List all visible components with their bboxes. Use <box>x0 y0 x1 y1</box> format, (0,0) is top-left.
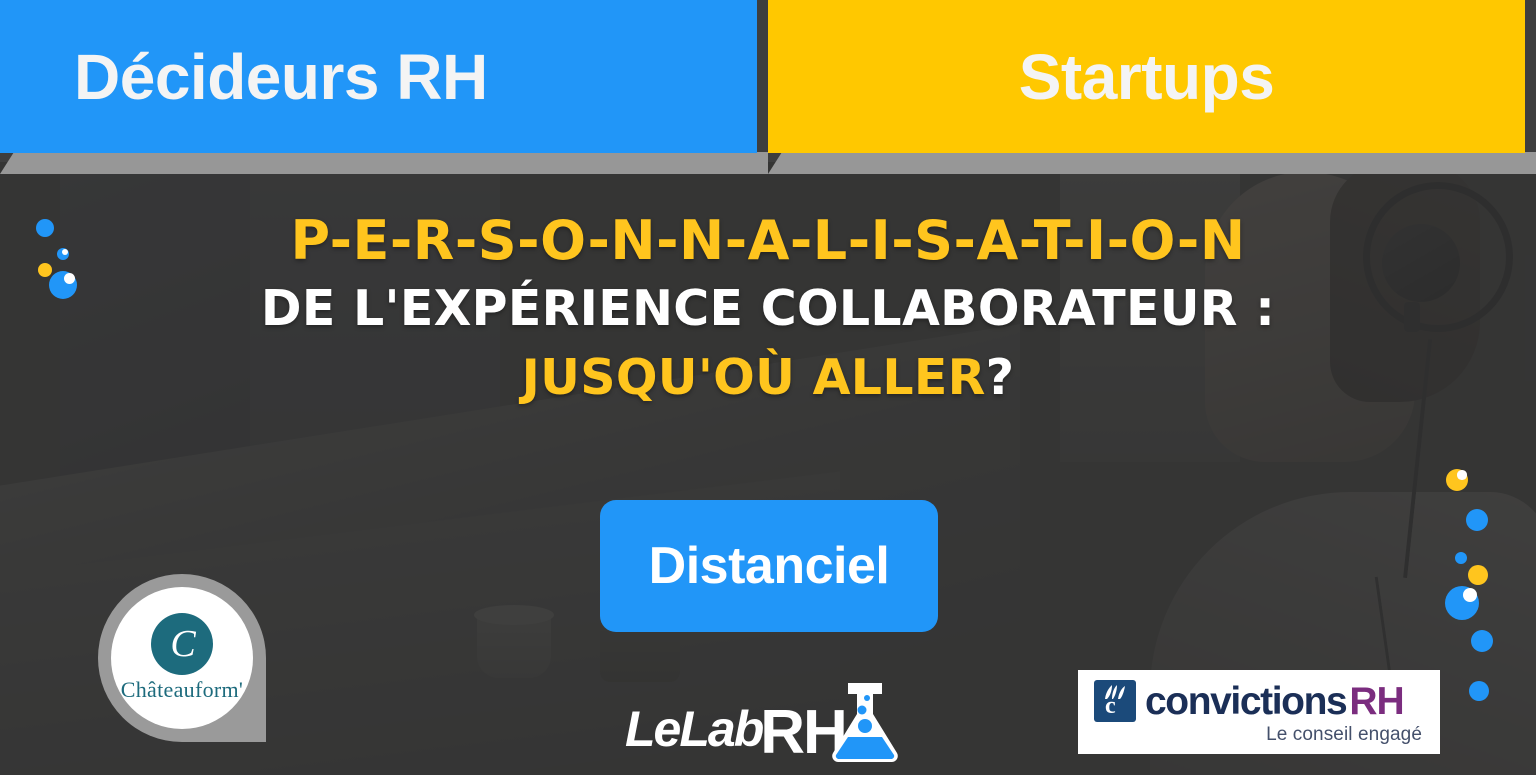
decor-right-dot <box>1469 681 1489 701</box>
decor-right-dot <box>1446 469 1468 491</box>
decor-right-dot-highlight <box>1463 588 1477 602</box>
chateauform-circle: C Châteauform' <box>111 587 253 729</box>
headline-line-question: JUSQU'OÙ ALLER? <box>0 353 1536 402</box>
headline-question-highlight: JUSQU'OÙ ALLER <box>522 349 986 406</box>
decor-right-dot <box>1455 552 1467 564</box>
headline-line-experience: DE L'EXPÉRIENCE COLLABORATEUR : <box>0 284 1536 333</box>
audience-banner-row: Décideurs RH Startups <box>0 0 1536 175</box>
banner-decideurs-rh[interactable]: Décideurs RH <box>0 0 757 153</box>
headline-block: P-E-R-S-O-N-N-A-L-I-S-A-T-I-O-N DE L'EXP… <box>0 214 1536 402</box>
flask-icon <box>828 679 902 763</box>
decor-left-dot-highlight <box>62 249 68 255</box>
decor-right-dot <box>1471 630 1493 652</box>
logo-convictions-rh: c convictions RH Le conseil engagé <box>1078 670 1440 754</box>
headline-line-personnalisation: P-E-R-S-O-N-N-A-L-I-S-A-T-I-O-N <box>0 214 1536 268</box>
banner-decideurs-rh-label: Décideurs RH <box>74 45 488 109</box>
convictions-rh-wordmark: RH <box>1349 682 1403 721</box>
banner-shadow-left <box>0 152 768 174</box>
decor-left-dot <box>57 248 69 260</box>
chateauform-monogram-letter: C <box>170 625 193 663</box>
decor-left-dot <box>49 271 77 299</box>
logo-lelab-rh: LeLab RH <box>625 673 915 761</box>
decor-right-dot <box>1468 565 1488 585</box>
distanciel-button[interactable]: Distanciel <box>600 500 938 632</box>
decor-left-dot <box>38 263 52 277</box>
convictions-tagline: Le conseil engagé <box>1094 724 1424 746</box>
decor-left-dot <box>36 219 54 237</box>
convictions-wordmark: convictions <box>1145 682 1346 721</box>
leaf-c-icon: c <box>1094 680 1136 722</box>
headline-question-mark: ? <box>986 349 1015 406</box>
distanciel-button-label: Distanciel <box>649 536 890 596</box>
logo-chateauform: C Châteauform' <box>98 574 266 742</box>
banner-shadow-right <box>768 152 1536 174</box>
convictions-c-letter: c <box>1105 694 1116 718</box>
chateauform-monogram-icon: C <box>151 613 213 675</box>
decor-right-dot-highlight <box>1457 470 1466 479</box>
lelab-wordmark: LeLab <box>625 706 762 754</box>
banner-startups[interactable]: Startups <box>768 0 1525 153</box>
decor-right-dot <box>1466 509 1488 531</box>
convictions-logo-row: c convictions RH <box>1094 680 1424 722</box>
decor-left-dot-highlight <box>64 273 76 285</box>
banner-startups-label: Startups <box>1019 45 1275 109</box>
chateauform-wordmark: Châteauform' <box>121 677 243 703</box>
decor-right-dot <box>1445 586 1479 620</box>
